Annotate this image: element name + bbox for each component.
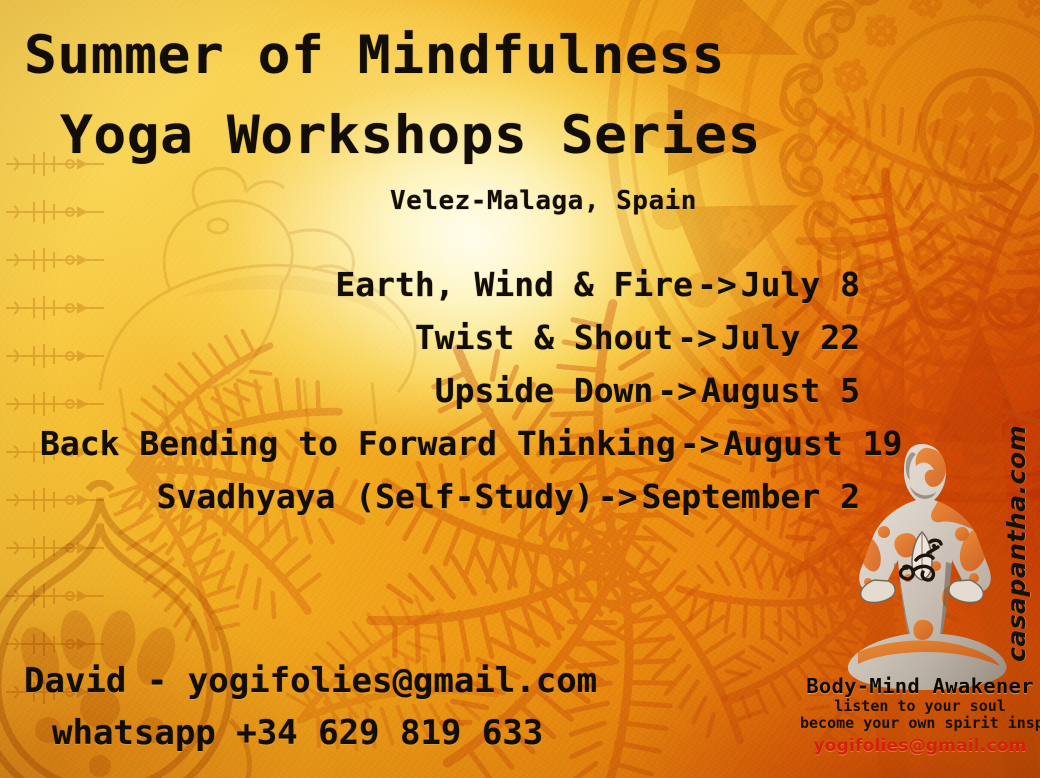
brand-tagline-1: listen to your soul (800, 698, 1040, 715)
arrow-icon: -> (594, 477, 642, 516)
workshop-date: July 8 (741, 265, 860, 304)
arrow-icon: -> (676, 424, 724, 463)
workshop-date: August 5 (701, 371, 860, 410)
contact-whatsapp[interactable]: whatsapp +34 629 819 633 (52, 707, 543, 759)
workshop-name: Earth, Wind & Fire (335, 265, 693, 304)
arrow-icon: -> (693, 265, 741, 304)
workshop-date: July 22 (721, 318, 860, 357)
workshop-row: Svadhyaya (Self-Study)->September 2 (40, 470, 860, 523)
poster-title-line-1: Summer of Mindfulness (24, 24, 725, 88)
arrow-icon: -> (653, 371, 701, 410)
contact-email[interactable]: David - yogifolies@gmail.com (24, 655, 597, 707)
workshop-name: Back Bending to Forward Thinking (40, 424, 676, 463)
workshop-list: Earth, Wind & Fire->July 8 Twist & Shout… (40, 258, 860, 523)
workshop-row: Earth, Wind & Fire->July 8 (40, 258, 860, 311)
workshop-row: Twist & Shout->July 22 (40, 311, 860, 364)
brand-tagline-2: become your own spirit inspirer (800, 715, 1040, 732)
workshop-row: Upside Down->August 5 (40, 364, 860, 417)
poster-title-line-2: Yoga Workshops Series (60, 104, 761, 168)
arrow-icon: -> (673, 318, 721, 357)
poster-location: Velez-Malaga, Spain (390, 186, 697, 216)
workshop-row: Back Bending to Forward Thinking->August… (40, 417, 860, 470)
workshop-name: Svadhyaya (Self-Study) (157, 477, 594, 516)
website-url-vertical[interactable]: casapantha.com (1002, 430, 1036, 662)
content-layer: Summer of Mindfulness Yoga Workshops Ser… (0, 0, 1040, 778)
workshop-name: Upside Down (435, 371, 654, 410)
meditating-yogi-icon (824, 438, 1020, 696)
brand-email[interactable]: yogifolies@gmail.com (800, 736, 1040, 756)
brand-name: Body-Mind Awakener (800, 674, 1040, 698)
workshop-name: Twist & Shout (415, 318, 673, 357)
poster-canvas: Summer of Mindfulness Yoga Workshops Ser… (0, 0, 1040, 778)
brand-text-block: Body-Mind Awakener listen to your soul b… (800, 674, 1040, 756)
